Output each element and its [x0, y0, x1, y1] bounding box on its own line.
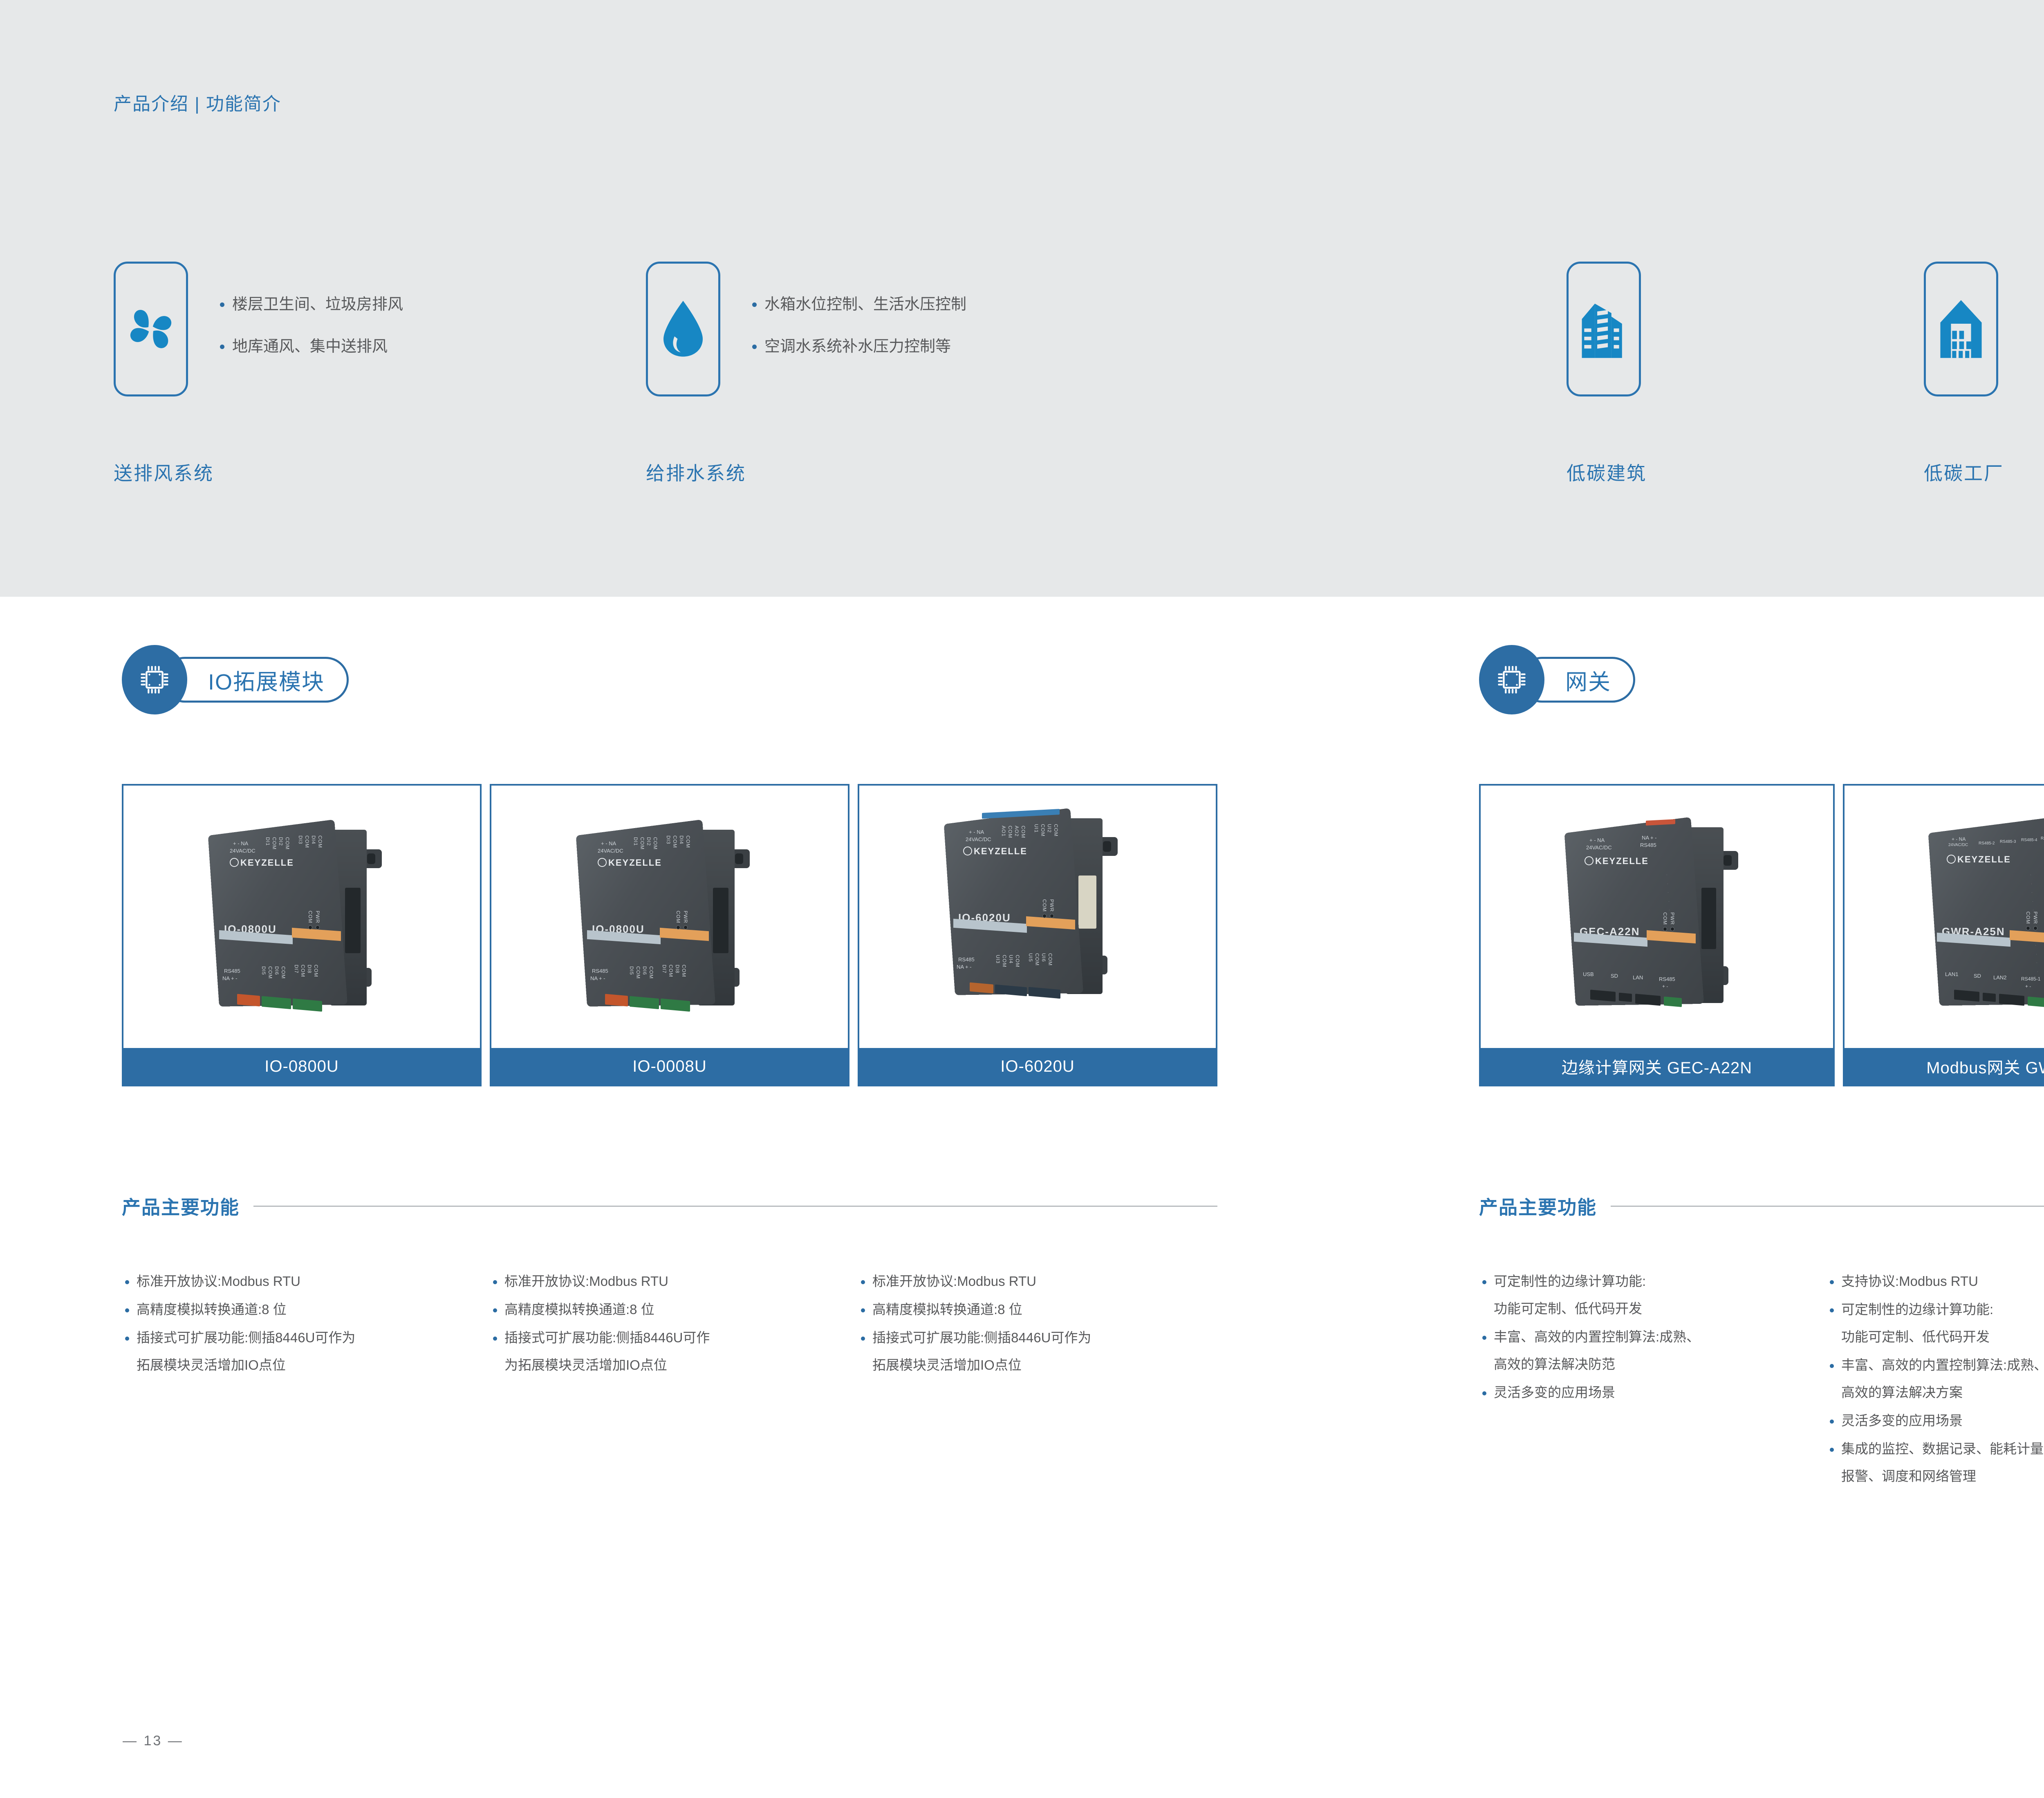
product-label-io-0008u: IO-0008U — [491, 1048, 848, 1085]
terminal-ao1: AO1 — [1001, 826, 1006, 837]
power-label: 24VAC/DC — [1948, 843, 1968, 847]
led-label-pwr: PWR — [683, 911, 688, 923]
terminal-com: COM — [300, 965, 306, 977]
terminal-com: COM — [1002, 955, 1007, 967]
feature-item: 集成的监控、数据记录、能耗计量、 报警、调度和网络管理 — [1827, 1442, 2044, 1483]
terminal-com: COM — [280, 966, 286, 979]
fan-icon — [126, 305, 175, 354]
power-label: 24VAC/DC — [1586, 844, 1612, 851]
feature-line: 插接式可扩展功能:侧插8446U可作 — [504, 1331, 850, 1344]
power-pin-labels: + - NA — [969, 829, 984, 835]
scenario-ventilation-bullets: 楼层卫生间、垃圾房排风 地库通风、集中送排风 — [217, 262, 403, 358]
terminal-di3: DI3 — [298, 835, 303, 844]
led-label-pwr: PWR — [1670, 912, 1675, 925]
page-number-left: — 13 — — [123, 1733, 184, 1749]
port-label-lan1: LAN1 — [1945, 971, 1959, 977]
terminal-com: COM — [672, 835, 678, 848]
low-carbon-tile-building — [1567, 262, 1641, 396]
feature-item: 高精度模拟转换通道:8 位 — [491, 1303, 850, 1316]
port-label-lan: LAN — [1633, 974, 1643, 981]
features-heading-right: 产品主要功能 — [1479, 1193, 2044, 1220]
rs485-pins: NA + - — [590, 975, 605, 981]
features-heading-left: 产品主要功能 — [122, 1193, 1217, 1220]
product-image-io-6020u: + - NA 24VAC/DC AO1 COM AO2 COM UI1 COM … — [859, 786, 1216, 1048]
feature-line: 丰富、高效的内置控制算法:成熟、 — [1841, 1358, 2044, 1372]
terminal-ui4: UI4 — [1008, 955, 1014, 964]
feature-item: 标准开放协议:Modbus RTU — [123, 1274, 482, 1288]
terminal-rs485-2: RS485-2 — [1979, 841, 1995, 846]
terminal-di1: DI1 — [265, 837, 271, 846]
device-gwr-a25n: + - NA 24VAC/DC RS485-2 RS485-3 RS485-4 … — [1906, 806, 2044, 1035]
terminal-di4: DI4 — [311, 835, 316, 844]
header-label-left: 产品介绍 | 功能简介 — [114, 89, 281, 115]
scenario-caption-plumbing: 给排水系统 — [646, 459, 746, 486]
feature-line: 插接式可扩展功能:侧插8446U可作为 — [872, 1331, 1218, 1344]
brand-text: KEYZELLE — [1595, 856, 1649, 866]
feature-line: 高精度模拟转换通道:8 位 — [137, 1303, 482, 1316]
scenario-caption-ventilation: 送排风系统 — [114, 459, 214, 486]
feature-column-1-right: 可定制性的边缘计算功能: 功能可定制、低代码开发 丰富、高效的内置控制算法:成熟… — [1480, 1274, 1827, 1414]
terminal-com: COM — [317, 835, 323, 848]
feature-item: 插接式可扩展功能:侧插8446U可作为 拓展模块灵活增加IO点位 — [123, 1331, 482, 1372]
led-com — [1042, 914, 1047, 918]
feature-line: 功能可定制、低代码开发 — [1841, 1330, 2044, 1343]
power-label: 24VAC/DC — [230, 848, 255, 854]
product-card-io-0008u[interactable]: + - NA 24VAC/DC DI1 COM DI2 COM DI3 COM … — [490, 784, 849, 1086]
port-label-sd: SD — [1611, 973, 1618, 979]
brand-logo-keyzelle: KEYZELLE — [1585, 856, 1649, 867]
product-label-io-0800u: IO-0800U — [123, 1048, 480, 1085]
water-drop-icon — [659, 298, 708, 360]
product-image-gec-a22n: + - NA 24VAC/DC NA + - RS485 KEYZELLE GE… — [1481, 786, 1833, 1048]
terminal-di7: DI7 — [661, 965, 667, 974]
terminal-com: COM — [635, 966, 641, 979]
terminal-di8: DI8 — [307, 965, 312, 974]
rs485-pins-bottom: + - — [2025, 983, 2031, 989]
terminal-com: COM — [652, 837, 658, 850]
feature-column-2-right: 支持协议:Modbus RTU 可定制性的边缘计算功能: 功能可定制、低代码开发… — [1827, 1274, 2044, 1498]
terminal-ui6: UI6 — [1041, 953, 1047, 962]
terminal-ao2: AO2 — [1014, 826, 1020, 837]
chip-icon-circle — [1479, 645, 1544, 714]
port-label-sd: SD — [1974, 973, 1981, 979]
product-image-io-0800u: + - NA 24VAC/DC DI1 COM DI2 COM DI3 COM … — [123, 786, 480, 1048]
connector-green — [2028, 996, 2044, 1007]
feature-item: 高精度模拟转换通道:8 位 — [858, 1303, 1218, 1316]
connector-orange — [237, 994, 260, 1007]
terminal-di3: DI3 — [666, 835, 671, 844]
feature-line: 标准开放协议:Modbus RTU — [504, 1274, 850, 1288]
led-com — [1663, 927, 1667, 931]
terminal-com: COM — [313, 965, 319, 977]
terminal-ui3: UI3 — [995, 955, 1001, 964]
led-label-pwr: PWR — [2033, 911, 2038, 924]
feature-item: 可定制性的边缘计算功能: 功能可定制、低代码开发 — [1827, 1303, 2044, 1343]
terminal-com: COM — [271, 837, 277, 850]
feature-item: 标准开放协议:Modbus RTU — [491, 1274, 850, 1288]
terminal-com: COM — [668, 965, 674, 977]
terminal-com: COM — [1040, 824, 1046, 837]
chip-icon — [1495, 663, 1529, 697]
led-label-pwr: PWR — [315, 911, 320, 923]
port-label-lan2: LAN2 — [1993, 974, 2007, 981]
section-badge-gateway: 网关 — [1479, 645, 1635, 714]
section-badge-io: IO拓展模块 — [122, 645, 349, 714]
side-expansion-card — [1078, 875, 1096, 929]
low-carbon-caption-factory: 低碳工厂 — [1924, 459, 1998, 486]
connector-orange — [605, 994, 628, 1007]
terminal-rs485-3: RS485-3 — [2000, 840, 2016, 844]
terminal-di5: DI5 — [629, 966, 634, 975]
product-label-io-6020u: IO-6020U — [859, 1048, 1216, 1085]
led-com — [676, 925, 680, 929]
terminal-ui2: UI2 — [1047, 824, 1052, 833]
terminal-com: COM — [304, 835, 310, 848]
product-image-gwr-a25n: + - NA 24VAC/DC RS485-2 RS485-3 RS485-4 … — [1845, 786, 2044, 1048]
feature-line: 标准开放协议:Modbus RTU — [872, 1274, 1218, 1288]
product-card-io-6020u[interactable]: + - NA 24VAC/DC AO1 COM AO2 COM UI1 COM … — [858, 784, 1217, 1086]
connector-green — [661, 999, 690, 1012]
rs485-label: RS485 — [592, 968, 608, 974]
terminal-di1: DI1 — [633, 837, 639, 846]
power-pin-labels: + - NA — [1952, 836, 1966, 842]
led-pwr — [1670, 927, 1674, 931]
brand-text: KEYZELLE — [240, 858, 294, 868]
terminal-di2: DI2 — [278, 837, 284, 846]
device-io-0008u: + - NA 24VAC/DC DI1 COM DI2 COM DI3 COM … — [553, 810, 782, 1027]
port-sd — [1619, 993, 1632, 1002]
terminal-com: COM — [1034, 953, 1040, 966]
feature-column-3-left: 标准开放协议:Modbus RTU 高精度模拟转换通道:8 位 插接式可扩展功能… — [858, 1274, 1218, 1386]
rs485-label: RS485 — [224, 968, 240, 974]
scenario-bullet: 空调水系统补水压力控制等 — [749, 336, 966, 358]
device-io-6020u: + - NA 24VAC/DC AO1 COM AO2 COM UI1 COM … — [921, 802, 1150, 1031]
scenario-plumbing: 水箱水位控制、生活水压控制 空调水系统补水压力控制等 — [646, 262, 966, 396]
terminal-ra485-5: RA485-5 — [2041, 836, 2044, 841]
low-carbon-tile-factory — [1924, 262, 1998, 396]
terminal-com: COM — [285, 837, 290, 850]
features-title-right: 产品主要功能 — [1479, 1193, 1597, 1220]
led-label-com: COM — [1662, 912, 1668, 925]
feature-line: 丰富、高效的内置控制算法:成熟、 — [1494, 1330, 1827, 1343]
terminal-ui5: UI5 — [1028, 953, 1033, 962]
product-label-gwr-a25n: Modbus网关 GWR-A25N — [1845, 1048, 2044, 1085]
brand-text: KEYZELLE — [608, 858, 662, 868]
terminal-di5: DI5 — [261, 966, 267, 975]
product-image-io-0008u: + - NA 24VAC/DC DI1 COM DI2 COM DI3 COM … — [491, 786, 848, 1048]
terminal-com: COM — [681, 965, 687, 977]
feature-line: 插接式可扩展功能:侧插8446U可作为 — [137, 1331, 482, 1344]
section-badge-io-title: IO拓展模块 — [162, 657, 349, 703]
feature-line: 报警、调度和网络管理 — [1841, 1469, 2044, 1483]
connector-green — [262, 996, 291, 1009]
led-label-com: COM — [2025, 911, 2031, 924]
device-gec-a22n: + - NA 24VAC/DC NA + - RS485 KEYZELLE GE… — [1542, 806, 1771, 1035]
power-pin-labels: + - NA — [233, 840, 248, 846]
feature-line: 高精度模拟转换通道:8 位 — [504, 1303, 850, 1316]
rs485-pins: NA + - — [222, 975, 238, 981]
power-pin-labels: + - NA — [1589, 837, 1605, 843]
chip-icon-circle — [122, 645, 187, 714]
terminal-com: COM — [639, 837, 645, 850]
led-pwr — [684, 925, 688, 929]
feature-line: 功能可定制、低代码开发 — [1494, 1302, 1827, 1315]
port-label-usb: USB — [1583, 971, 1594, 977]
led-label-pwr: PWR — [1049, 899, 1055, 912]
product-card-gwr-a25n[interactable]: + - NA 24VAC/DC RS485-2 RS485-3 RS485-4 … — [1843, 784, 2044, 1086]
feature-item: 插接式可扩展功能:侧插8446U可作 为拓展模块灵活增加IO点位 — [491, 1331, 850, 1372]
feature-line: 集成的监控、数据记录、能耗计量、 — [1841, 1442, 2044, 1455]
power-label: 24VAC/DC — [966, 836, 991, 842]
feature-line: 拓展模块灵活增加IO点位 — [137, 1358, 482, 1372]
scenario-bullet: 楼层卫生间、垃圾房排风 — [217, 293, 403, 316]
port-sd — [1983, 993, 1996, 1002]
terminal-di7: DI7 — [294, 965, 299, 974]
device-io-0800u: + - NA 24VAC/DC DI1 COM DI2 COM DI3 COM … — [185, 810, 414, 1027]
feature-item: 丰富、高效的内置控制算法:成熟、 高效的算法解决方案 — [1827, 1358, 2044, 1399]
rs485-pins-top: NA + - — [1642, 835, 1657, 841]
feature-item: 支持协议:Modbus RTU — [1827, 1274, 2044, 1288]
terminal-com: COM — [1015, 955, 1020, 967]
terminal-com: COM — [685, 835, 691, 848]
terminal-com: COM — [1020, 826, 1026, 838]
brand-text: KEYZELLE — [974, 846, 1027, 856]
led-pwr — [316, 925, 320, 929]
feature-line: 高效的算法解决防范 — [1494, 1357, 1827, 1371]
expansion-slot — [1701, 888, 1716, 949]
terminal-di2: DI2 — [646, 837, 652, 846]
led-com — [2026, 926, 2030, 930]
feature-column-2-left: 标准开放协议:Modbus RTU 高精度模拟转换通道:8 位 插接式可扩展功能… — [491, 1274, 850, 1386]
scenario-bullet: 地库通风、集中送排风 — [217, 336, 403, 358]
terminal-ui1: UI1 — [1033, 824, 1039, 833]
feature-line: 高效的算法解决方案 — [1841, 1386, 2044, 1399]
rs485-label-top: RS485 — [1640, 842, 1656, 848]
feature-item: 灵活多变的应用场景 — [1480, 1386, 1827, 1399]
brand-logo-keyzelle: KEYZELLE — [598, 858, 662, 868]
terminal-di6: DI6 — [642, 966, 648, 975]
power-label: 24VAC/DC — [598, 848, 623, 854]
heading-rule — [1611, 1206, 2044, 1207]
feature-line: 为拓展模块灵活增加IO点位 — [504, 1358, 850, 1372]
feature-line: 可定制性的边缘计算功能: — [1494, 1274, 1827, 1288]
low-carbon-caption-building: 低碳建筑 — [1567, 459, 1641, 486]
brand-logo-keyzelle: KEYZELLE — [230, 858, 294, 868]
led-label-com: COM — [675, 911, 681, 923]
brand-logo-keyzelle: KEYZELLE — [1947, 854, 2011, 865]
terminal-com: COM — [267, 966, 273, 979]
feature-item: 丰富、高效的内置控制算法:成熟、 高效的算法解决防范 — [1480, 1330, 1827, 1371]
rs485-pins: NA + - — [957, 964, 972, 970]
terminal-di4: DI4 — [679, 835, 684, 844]
product-label-gec-a22n: 边缘计算网关 GEC-A22N — [1481, 1048, 1833, 1085]
port-label-rs485-1: RS485-1 — [2021, 976, 2040, 982]
brand-text: KEYZELLE — [1957, 854, 2011, 864]
terminal-com: COM — [1053, 824, 1059, 837]
feature-line: 支持协议:Modbus RTU — [1841, 1274, 2044, 1288]
connector-green — [630, 996, 659, 1009]
led-label-com: COM — [307, 911, 313, 923]
product-card-gec-a22n[interactable]: + - NA 24VAC/DC NA + - RS485 KEYZELLE GE… — [1479, 784, 1835, 1086]
expansion-slot — [345, 888, 361, 953]
expansion-slot — [713, 888, 728, 953]
product-card-io-0800u[interactable]: + - NA 24VAC/DC DI1 COM DI2 COM DI3 COM … — [122, 784, 482, 1086]
feature-line: 灵活多变的应用场景 — [1841, 1414, 2044, 1427]
port-label-rs485: RS485 — [1659, 976, 1675, 982]
terminal-di8: DI8 — [675, 965, 680, 974]
feature-item: 高精度模拟转换通道:8 位 — [123, 1303, 482, 1316]
factory-icon — [1934, 296, 1988, 362]
scenario-plumbing-bullets: 水箱水位控制、生活水压控制 空调水系统补水压力控制等 — [749, 262, 966, 358]
feature-item: 标准开放协议:Modbus RTU — [858, 1274, 1218, 1288]
features-title-left: 产品主要功能 — [122, 1193, 240, 1220]
feature-line: 可定制性的边缘计算功能: — [1841, 1303, 2044, 1316]
feature-line: 标准开放协议:Modbus RTU — [137, 1274, 482, 1288]
heading-rule — [253, 1206, 1217, 1207]
feature-line: 灵活多变的应用场景 — [1494, 1386, 1827, 1399]
power-pin-labels: + - NA — [601, 840, 616, 846]
led-com — [308, 925, 312, 929]
fan-icon-box — [114, 262, 188, 396]
terminal-com: COM — [1007, 826, 1013, 838]
connector-green — [293, 999, 322, 1012]
feature-item: 灵活多变的应用场景 — [1827, 1414, 2044, 1427]
water-drop-icon-box — [646, 262, 720, 396]
led-label-com: COM — [1042, 899, 1047, 912]
chip-icon — [137, 663, 172, 697]
brand-logo-keyzelle: KEYZELLE — [963, 846, 1027, 857]
feature-item: 可定制性的边缘计算功能: 功能可定制、低代码开发 — [1480, 1274, 1827, 1315]
feature-line: 高精度模拟转换通道:8 位 — [872, 1303, 1218, 1316]
rs485-pins-bottom: + - — [1662, 983, 1668, 989]
scenario-ventilation: 楼层卫生间、垃圾房排风 地库通风、集中送排风 — [114, 262, 403, 396]
scenario-bullet: 水箱水位控制、生活水压控制 — [749, 293, 966, 316]
terminal-com: COM — [1047, 953, 1053, 966]
terminal-di6: DI6 — [274, 966, 280, 975]
feature-item: 插接式可扩展功能:侧插8446U可作为 拓展模块灵活增加IO点位 — [858, 1331, 1218, 1372]
office-building-icon — [1577, 296, 1630, 362]
terminal-rs485-4: RS485-4 — [2021, 838, 2037, 842]
connector-green — [1664, 996, 1682, 1007]
led-pwr — [1050, 914, 1054, 918]
led-pwr — [2033, 926, 2037, 930]
feature-column-1-left: 标准开放协议:Modbus RTU 高精度模拟转换通道:8 位 插接式可扩展功能… — [123, 1274, 482, 1386]
feature-line: 拓展模块灵活增加IO点位 — [872, 1358, 1218, 1372]
rs485-label: RS485 — [958, 956, 975, 963]
terminal-com: COM — [648, 966, 654, 979]
